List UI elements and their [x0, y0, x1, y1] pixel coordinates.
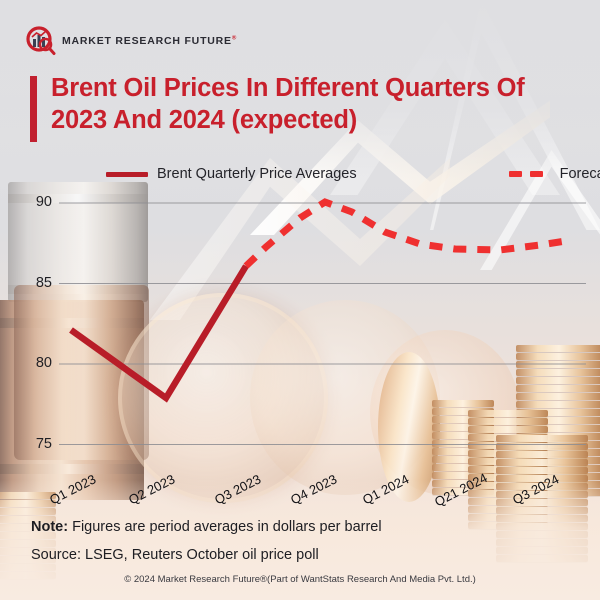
gridlines	[59, 203, 586, 445]
note-line: Note: Figures are period averages in dol…	[31, 519, 382, 535]
copyright-line: © 2024 Market Research Future®(Part of W…	[0, 574, 600, 585]
series-line-forecast	[246, 202, 572, 266]
y-axis-tick-80: 80	[18, 355, 52, 371]
note-text: Figures are period averages in dollars p…	[68, 519, 382, 535]
series-line-brent-quarterly-price-averages	[71, 266, 246, 398]
source-line: Source: LSEG, Reuters October oil price …	[31, 547, 319, 563]
chart-plot-area: 90 85 80 75 Q1 2023 Q2 2023 Q3 2023 Q4 2…	[0, 0, 600, 600]
y-axis-tick-85: 85	[18, 275, 52, 291]
infographic-root: MARKET RESEARCH FUTURE® Brent Oil Prices…	[0, 0, 600, 600]
note-label: Note:	[31, 519, 68, 535]
y-axis-tick-90: 90	[18, 194, 52, 210]
y-axis-tick-75: 75	[18, 436, 52, 452]
chart-svg	[0, 0, 600, 600]
